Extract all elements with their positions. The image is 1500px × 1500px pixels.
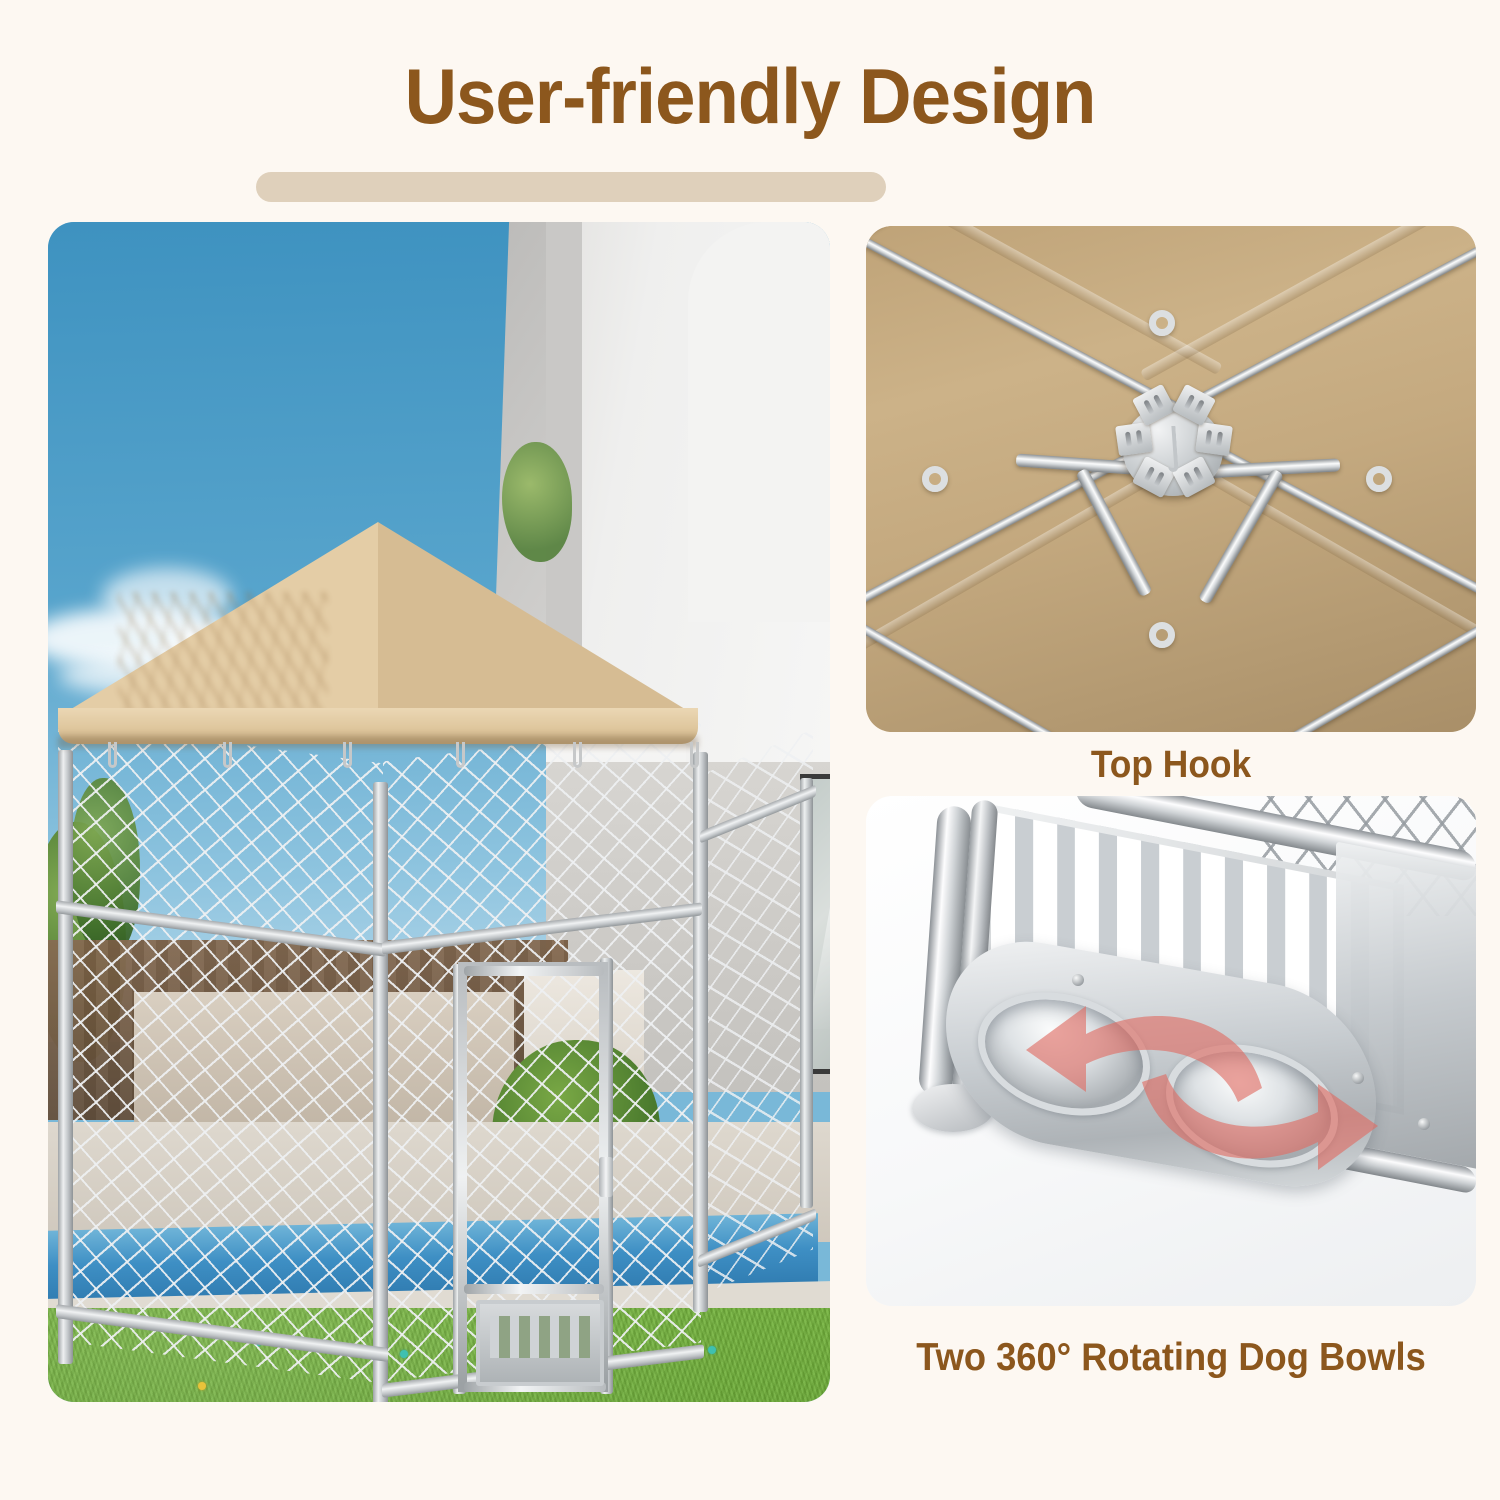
caption-rotating-bowls: Two 360° Rotating Dog Bowls [869,1334,1474,1382]
kennel-corner-post [58,750,73,1364]
canopy-roof [58,522,698,752]
title-underline-bar [256,172,886,202]
page-title: User-friendly Design [53,46,1448,146]
hub-tab [1195,422,1233,456]
kennel-rear-post [800,778,813,1208]
canopy-hook-icon [690,742,699,768]
dog-bowls-photo [866,796,1476,1306]
title-block: User-friendly Design [0,46,1500,156]
mesh-knuckle [1149,310,1175,336]
pet-door [476,1300,604,1386]
gate-mid-bar [464,1284,604,1294]
pet-door-slats [490,1316,590,1358]
gate-latch [599,1157,613,1197]
main-product-photo [48,222,830,1402]
screw [1072,974,1084,986]
canopy-hook-icon [343,742,352,768]
leaf-shadow [118,592,328,722]
canopy-hook-icon [573,742,582,768]
canopy-hook-icon [456,742,465,768]
canopy-hook-icon [108,742,117,768]
mesh-knuckle [1149,622,1175,648]
flower [708,1346,716,1354]
screw [1418,1118,1430,1130]
rotation-arrow-icon [1128,1042,1388,1192]
mesh-knuckle [922,466,948,492]
canopy-face-right [378,522,698,717]
caption-top-hook: Top Hook [887,742,1454,788]
flower [198,1382,206,1390]
mesh-knuckle [1366,466,1392,492]
top-hook-photo [866,226,1476,732]
gate-top-bar [464,966,604,976]
chain-link-mesh-front-left [58,721,383,1384]
canopy-edge-shadow [58,736,698,748]
canopy-hook-icon [223,742,232,768]
building-rounded-corner [688,222,830,622]
hub-tab [1115,422,1153,456]
top-hook-hub [1109,390,1237,508]
kennel-post [373,782,388,1402]
